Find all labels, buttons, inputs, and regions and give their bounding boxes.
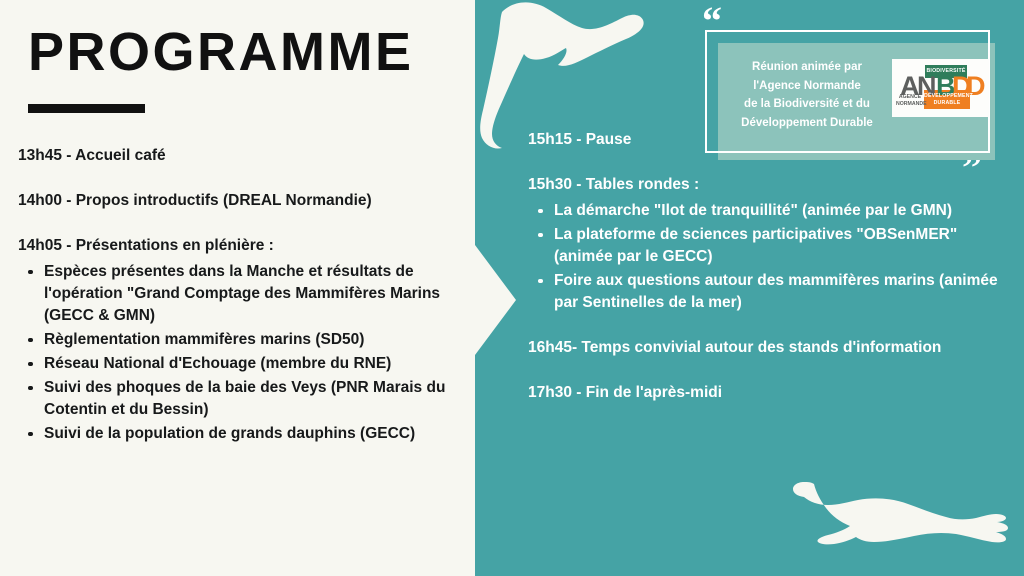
schedule-entry: 17h30 - Fin de l'après-midi — [528, 383, 1006, 404]
schedule-entry-time-label: 13h45 - Accueil café — [18, 146, 473, 167]
schedule-entry: 16h45- Temps convivial autour des stands… — [528, 338, 1006, 359]
schedule-entry: 13h45 - Accueil café — [18, 146, 473, 167]
logo-biodiversite-label: BIODIVERSITÉ — [925, 68, 967, 75]
list-item: La démarche "Ilot de tranquillité" (anim… — [528, 200, 1006, 222]
schedule-entry-time-label: 17h30 - Fin de l'après-midi — [528, 383, 1006, 404]
schedule-sublist: La démarche "Ilot de tranquillité" (anim… — [528, 200, 1006, 314]
right-schedule-column: 15h15 - Pause 15h30 - Tables rondes : La… — [528, 130, 1006, 404]
schedule-entry-time-label: 14h05 - Présentations en plénière : — [18, 236, 473, 257]
schedule-entry: 14h00 - Propos introductifs (DREAL Norma… — [18, 191, 473, 212]
list-item: Réseau National d'Echouage (membre du RN… — [18, 353, 473, 375]
schedule-entry-time-label: 14h00 - Propos introductifs (DREAL Norma… — [18, 191, 473, 212]
schedule-sublist: Espèces présentes dans la Manche et résu… — [18, 261, 473, 445]
logo-agence-label: AGENCE NORMANDE — [896, 94, 924, 107]
logo-developpement-label: DÉVELOPPEMENT DURABLE — [924, 93, 970, 106]
page-title: PROGRAMME — [28, 25, 414, 79]
left-schedule-column: 13h45 - Accueil café 14h00 - Propos intr… — [18, 146, 473, 445]
schedule-entry: 15h30 - Tables rondes : La démarche "Ilo… — [528, 175, 1006, 314]
quote-card-text: Réunion animée par l'Agence Normande de … — [727, 58, 887, 133]
list-item: Foire aux questions autour des mammifère… — [528, 270, 1006, 314]
schedule-entry-time-label: 15h30 - Tables rondes : — [528, 175, 1006, 196]
title-underline-rule — [28, 104, 145, 113]
list-item: Espèces présentes dans la Manche et résu… — [18, 261, 473, 327]
schedule-entry: 14h05 - Présentations en plénière : Espè… — [18, 236, 473, 445]
slide-canvas: PROGRAMME 13h45 - Accueil café 14h00 - P… — [0, 0, 1024, 576]
quote-line-3: de la Biodiversité et du — [727, 95, 887, 114]
quote-line-1: Réunion animée par — [727, 58, 887, 77]
list-item: Suivi de la population de grands dauphin… — [18, 423, 473, 445]
list-item: Règlementation mammifères marins (SD50) — [18, 329, 473, 351]
organizer-quote-card: Réunion animée par l'Agence Normande de … — [705, 30, 995, 160]
quote-line-4: Développement Durable — [727, 114, 887, 133]
list-item: Suivi des phoques de la baie des Veys (P… — [18, 377, 473, 421]
quote-line-2: l'Agence Normande — [727, 77, 887, 96]
anbdd-logo: A N B D D BIODIVERSITÉ DÉVELOPPEMENT DUR… — [892, 59, 989, 117]
schedule-entry-time-label: 16h45- Temps convivial autour des stands… — [528, 338, 1006, 359]
list-item: La plateforme de sciences participatives… — [528, 224, 1006, 268]
seal-icon — [790, 452, 1020, 572]
